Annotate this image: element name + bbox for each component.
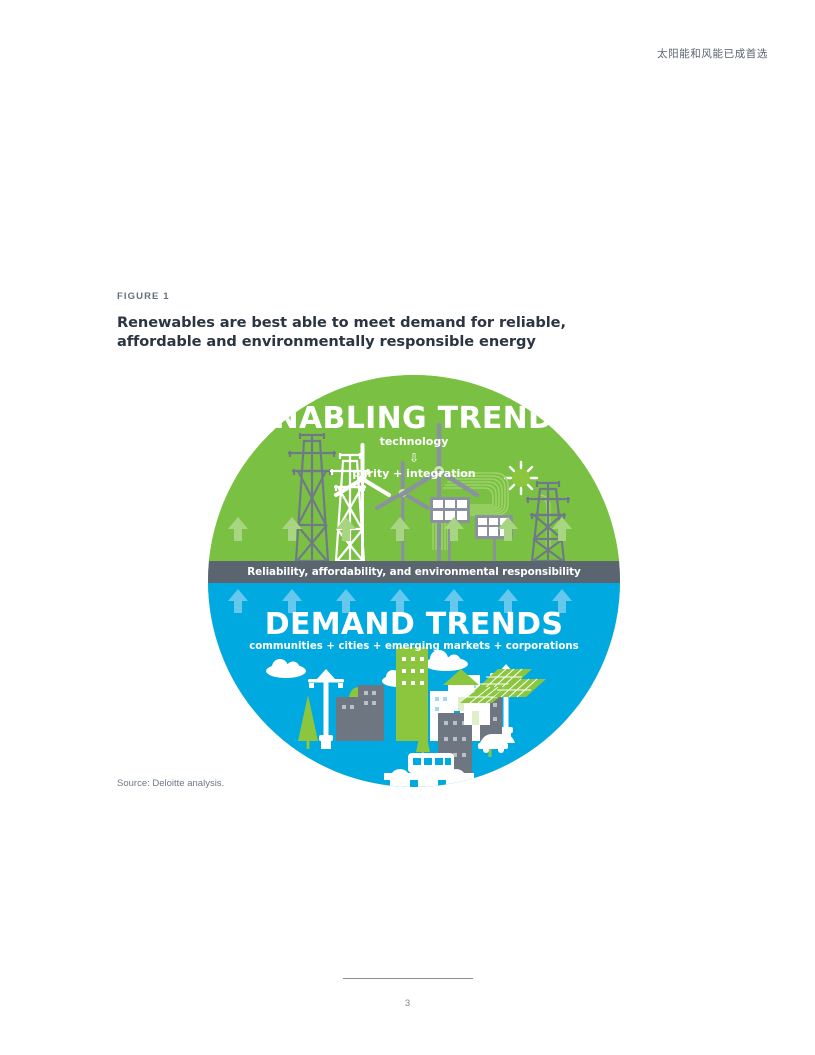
cloud [266,650,468,687]
down-arrow-glyph-icon: ⇩ [208,451,620,465]
demand-trends-heading: DEMAND TRENDS [208,607,620,642]
running-header: 太阳能和风能已成首选 [657,46,768,61]
infographic-circle: ENABLING TRENDS technology ⇩ parity + in… [208,375,620,787]
office-building-gray [336,685,384,741]
down-arrow-group [228,517,572,541]
bridge [384,769,474,787]
center-band-text: Reliability, affordability, and environm… [247,566,580,578]
center-band: Reliability, affordability, and environm… [208,561,620,583]
page-number: 3 [0,998,815,1009]
parity-integration-label: parity + integration [208,467,620,480]
figure-label: FIGURE 1 [117,291,677,302]
figure-title: Renewables are best able to meet demand … [117,313,612,352]
figure-block: FIGURE 1 Renewables are best able to mee… [117,291,677,352]
demand-trends-subheading: communities + cities + emerging markets … [208,641,620,652]
enabling-trends-heading: ENABLING TRENDS [208,401,620,436]
office-building-green [396,647,428,741]
footer-rule [343,978,473,979]
source-note: Source: Deloitte analysis. [117,778,224,789]
technology-label: technology [208,435,620,448]
